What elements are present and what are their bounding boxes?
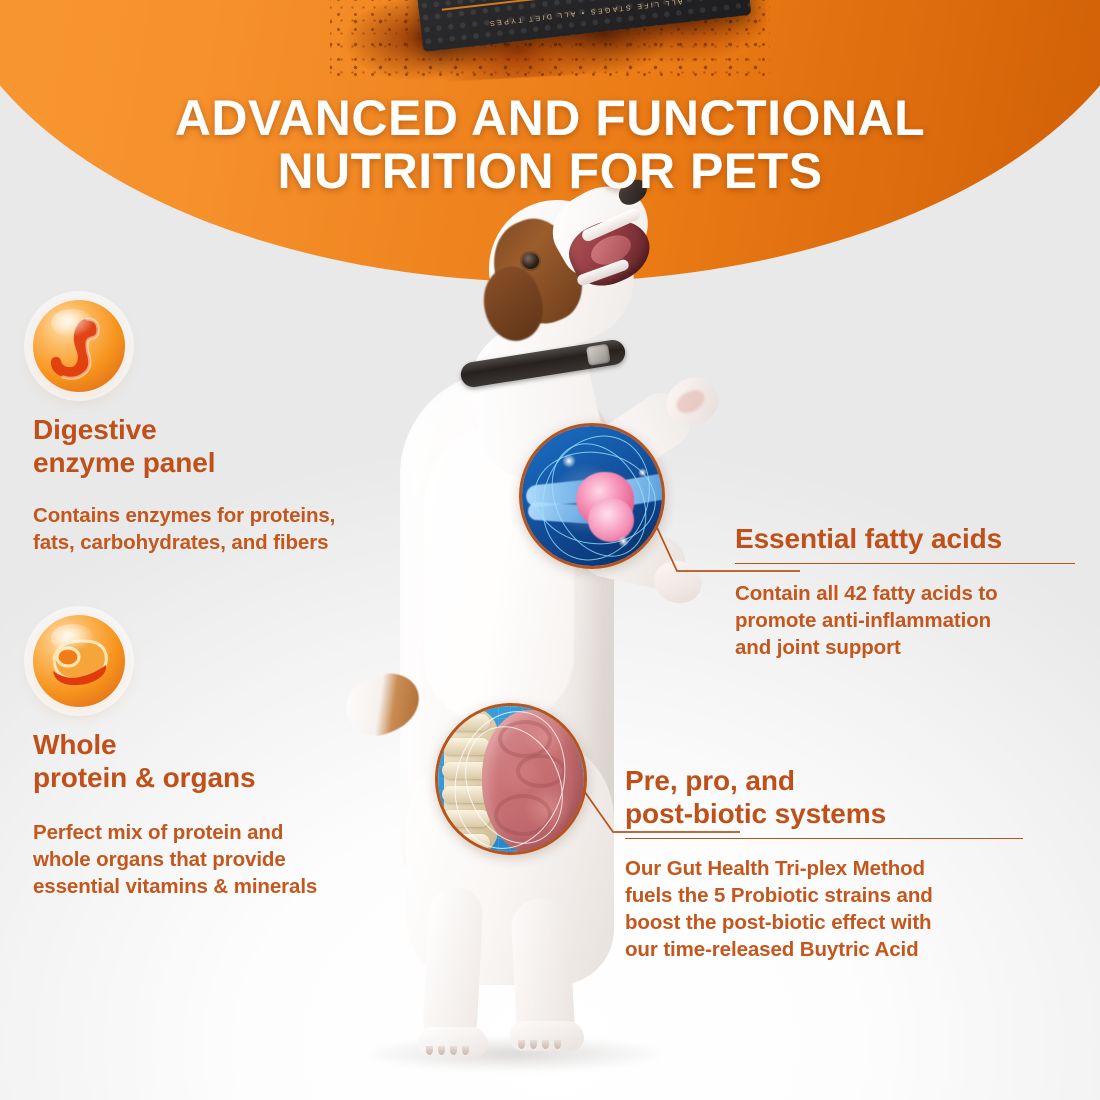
dog-left-claws <box>426 1046 469 1055</box>
dog-right-claws <box>518 1040 561 1049</box>
joint-sparkle <box>562 454 576 468</box>
callout-body: Contain all 42 fatty acids to promote an… <box>735 580 1075 661</box>
intestine-image <box>435 703 587 855</box>
meat-cut-icon <box>33 615 125 707</box>
dog-left-shin <box>422 886 484 1049</box>
joint-sparkle <box>618 536 629 547</box>
callout-body: Our Gut Health Tri-plex Method fuels the… <box>625 855 1023 963</box>
callout-title: Pre, pro, and post-biotic systems <box>625 765 1023 831</box>
dog-eye <box>522 253 539 269</box>
callout-pre-pro-post-biotic-systems: Pre, pro, and post-biotic systems Our Gu… <box>625 765 1023 963</box>
page-title: ADVANCED AND FUNCTIONAL NUTRITION FOR PE… <box>0 92 1100 198</box>
callout-title: Essential fatty acids <box>735 523 1075 556</box>
feature-title: Whole protein & organs <box>33 729 433 795</box>
dog-left-foot <box>418 1027 488 1057</box>
feature-body: Contains enzymes for proteins, fats, car… <box>33 502 433 556</box>
feature-digestive-enzyme-panel: Digestive enzyme panel Contains enzymes … <box>33 300 433 556</box>
feature-title: Digestive enzyme panel <box>33 414 433 480</box>
feature-body: Perfect mix of protein and whole organs … <box>33 819 433 900</box>
callout-underline <box>625 838 1023 840</box>
stomach-icon <box>33 300 125 392</box>
dog-right-foot <box>510 1021 584 1051</box>
callout-underline <box>735 563 1075 565</box>
joint-sparkle <box>638 468 647 477</box>
joint-xray-image <box>519 423 665 569</box>
product-bag-photo: SMITH ALL LIFE STAGES • ALL DIET TYPES <box>290 0 810 82</box>
infographic-poster: SMITH ALL LIFE STAGES • ALL DIET TYPES A… <box>0 0 1100 1100</box>
feature-whole-protein-and-organs: Whole protein & organs Perfect mix of pr… <box>33 615 433 900</box>
callout-essential-fatty-acids: Essential fatty acids Contain all 42 fat… <box>735 523 1075 661</box>
